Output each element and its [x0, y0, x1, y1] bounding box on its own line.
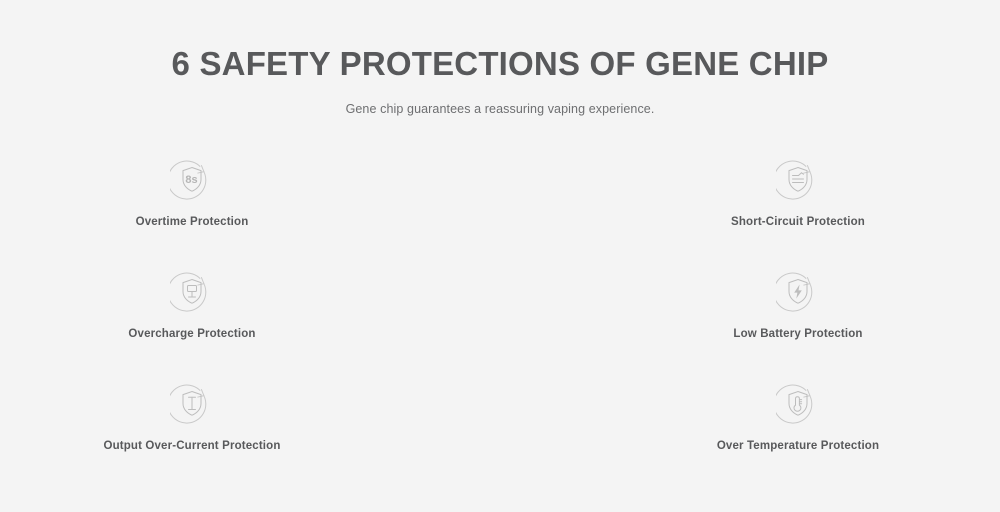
feature-item-short-circuit-protection: Short-Circuit Protection: [596, 158, 1000, 270]
page-header: 6 SAFETY PROTECTIONS OF GENE CHIP Gene c…: [0, 0, 1000, 118]
feature-label: Output Over-Current Protection: [103, 440, 280, 452]
feature-label: Over Temperature Protection: [717, 440, 879, 452]
safety-protections-page: 6 SAFETY PROTECTIONS OF GENE CHIP Gene c…: [0, 0, 1000, 512]
page-title: 6 SAFETY PROTECTIONS OF GENE CHIP: [0, 44, 1000, 84]
feature-item-overtime-protection: 8s Overtime Protection: [0, 158, 500, 270]
feature-label: Overcharge Protection: [128, 328, 255, 340]
feature-label: Short-Circuit Protection: [731, 216, 865, 228]
feature-item-over-temperature-protection: Over Temperature Protection: [596, 382, 1000, 494]
feature-item-output-over-current-protection: Output Over-Current Protection: [0, 382, 500, 494]
shield-lightning-icon: [776, 270, 820, 314]
feature-label: Low Battery Protection: [733, 328, 862, 340]
feature-item-overcharge-protection: Overcharge Protection: [0, 270, 500, 382]
page-subtitle: Gene chip guarantees a reassuring vaping…: [0, 100, 1000, 118]
shield-plug-icon: [170, 270, 214, 314]
shield-current-arrow-icon: [170, 382, 214, 426]
shield-thermometer-icon: [776, 382, 820, 426]
feature-label: Overtime Protection: [136, 216, 249, 228]
features-grid: 8s Overtime Protection Short-Circuit: [0, 158, 1000, 494]
feature-item-low-battery-protection: Low Battery Protection: [596, 270, 1000, 382]
shield-timer-label: 8s: [185, 174, 197, 186]
shield-circuit-icon: [776, 158, 820, 202]
shield-timer-8s-icon: 8s: [170, 158, 214, 202]
